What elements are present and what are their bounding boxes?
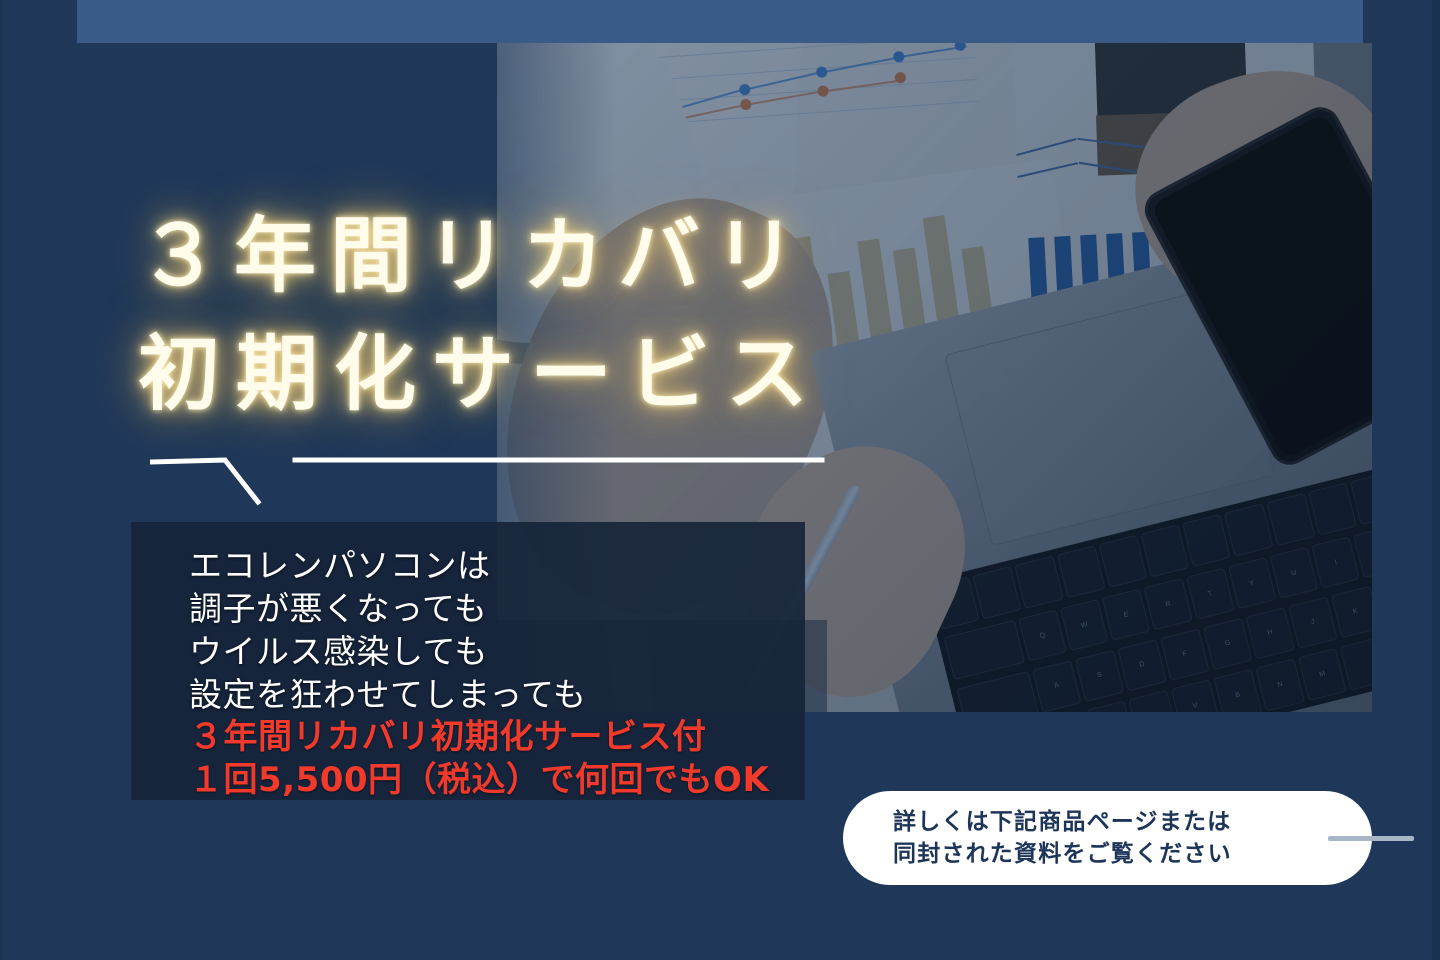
callout-rule <box>1328 836 1414 841</box>
info-line: 設定を狂わせてしまっても <box>189 673 805 716</box>
page-title: ３年間リカバリ 初期化サービス <box>138 198 1038 434</box>
info-line-highlight: １回5,500円（税込）で何回でもOK <box>189 759 805 802</box>
callout-line-2: 同封された資料をご覧ください <box>893 838 1372 870</box>
info-line: 調子が悪くなっても <box>189 587 805 630</box>
info-line: ウイルス感染しても <box>189 630 805 673</box>
poster-canvas: QWE RTY UIO P ASD FGH JKL ZXC <box>0 0 1440 960</box>
top-accent-band <box>77 0 1363 43</box>
decor-pointer <box>150 440 830 510</box>
pointer-line-icon <box>152 460 258 502</box>
callout-line-1: 詳しくは下記商品ページまたは <box>893 806 1372 838</box>
title-line-2: 初期化サービス <box>138 316 1038 434</box>
info-line-highlight: ３年間リカバリ初期化サービス付 <box>189 716 805 759</box>
info-panel: エコレンパソコンは 調子が悪くなっても ウイルス感染しても 設定を狂わせてしまっ… <box>131 522 805 800</box>
callout-pill: 詳しくは下記商品ページまたは 同封された資料をご覧ください <box>843 791 1372 885</box>
info-line: エコレンパソコンは <box>189 544 805 587</box>
left-edge-strip <box>0 0 3 960</box>
right-edge-strip <box>1432 0 1440 960</box>
title-line-1: ３年間リカバリ <box>138 198 1038 316</box>
